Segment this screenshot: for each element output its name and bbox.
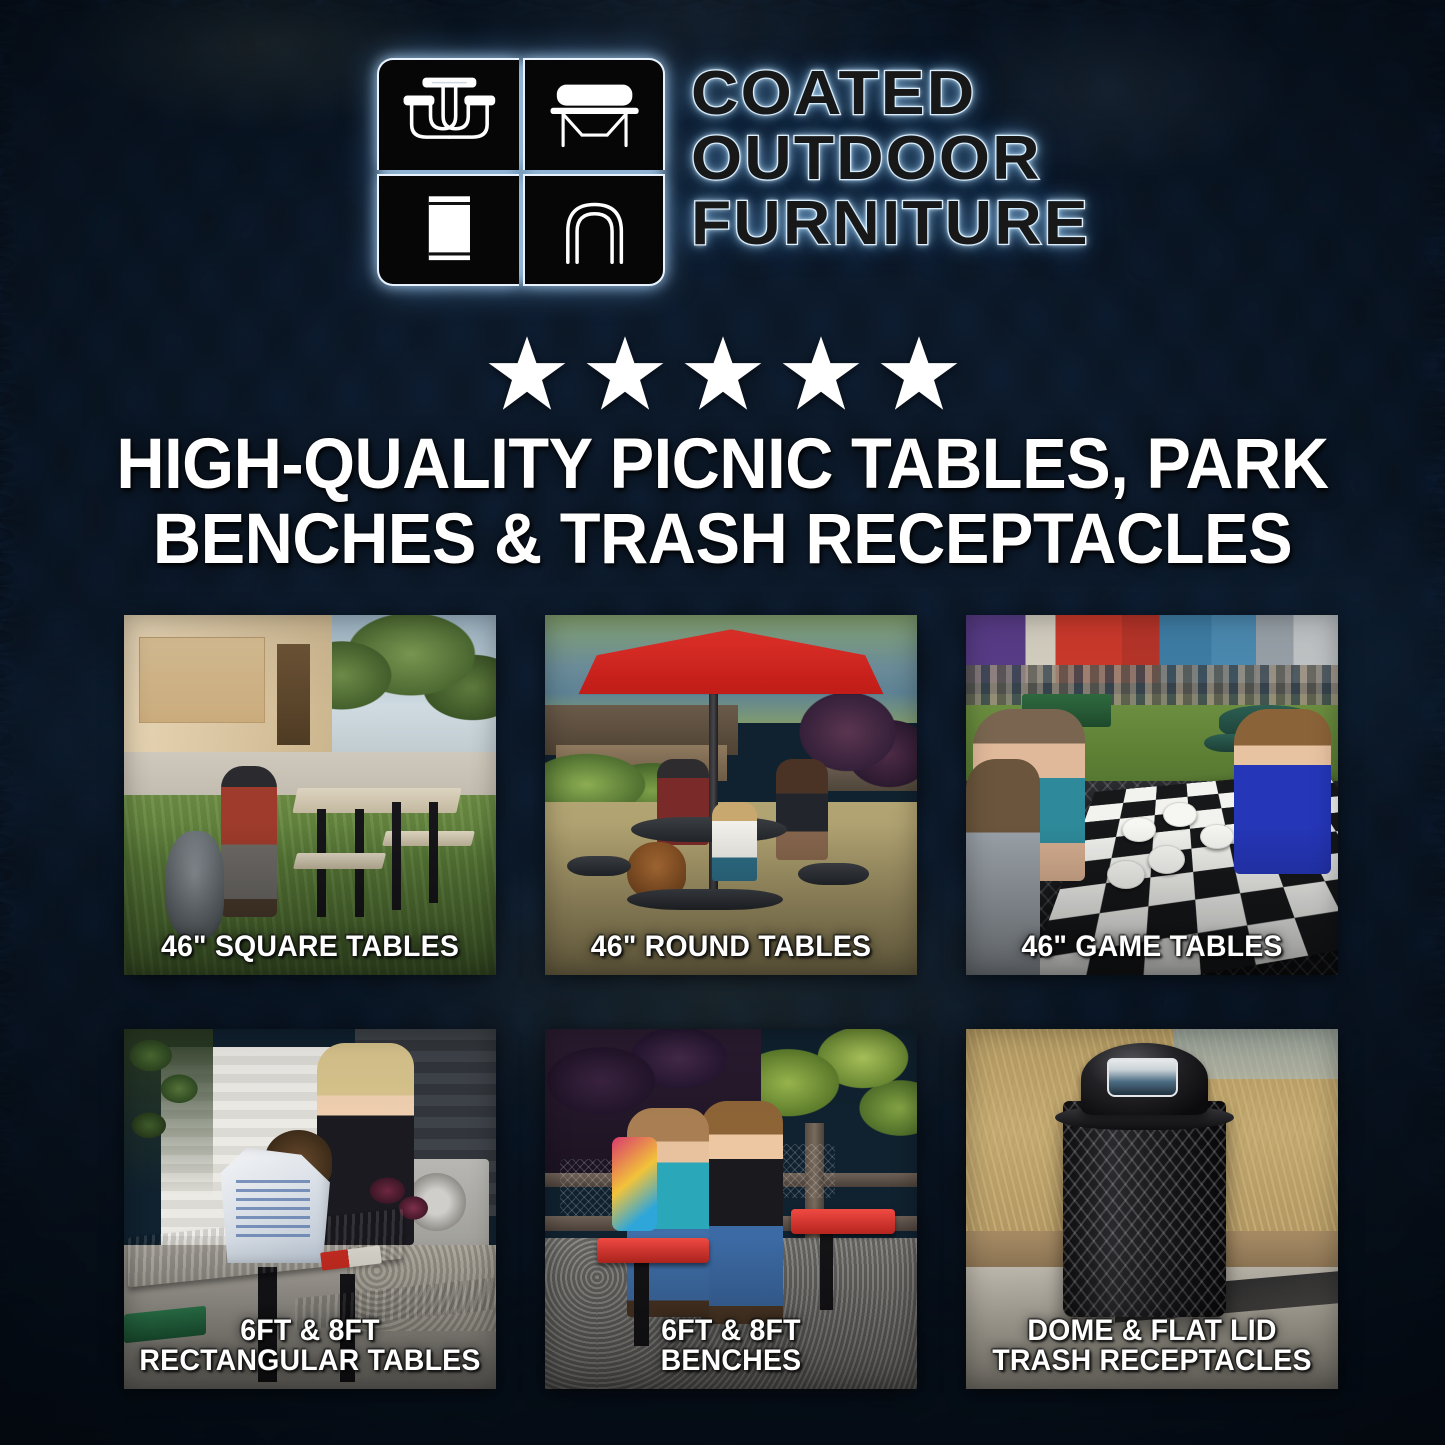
brand-line-1: COATED [691,62,1090,125]
product-caption-benches: 6FT & 8FT BENCHES [560,1316,902,1377]
brand-line-2: OUTDOOR [691,127,1090,190]
product-caption-trash-receptacles: DOME & FLAT LID TRASH RECEPTACLES [981,1316,1323,1377]
star-rating [0,334,1445,412]
caption-line: 6FT & 8FT [139,1316,481,1347]
product-tile-rectangular-tables[interactable]: 6FT & 8FT RECTANGULAR TABLES [124,1029,496,1389]
product-tile-square-tables[interactable]: 46" SQUARE TABLES [124,615,496,975]
caption-line: DOME & FLAT LID [981,1316,1323,1347]
product-caption-round-tables: 46" ROUND TABLES [560,932,902,963]
product-tile-round-tables[interactable]: 46" ROUND TABLES [545,615,917,975]
product-caption-square-tables: 46" SQUARE TABLES [139,932,481,963]
product-tile-game-tables[interactable]: 46" GAME TABLES [966,615,1338,975]
trash-receptacle-icon [377,174,519,286]
product-tile-trash-receptacles[interactable]: DOME & FLAT LID TRASH RECEPTACLES [966,1029,1338,1389]
logo-icon-grid [377,58,665,286]
caption-line: RECTANGULAR TABLES [139,1346,481,1377]
product-caption-rectangular-tables: 6FT & 8FT RECTANGULAR TABLES [139,1316,481,1377]
caption-line: 46" SQUARE TABLES [139,932,481,963]
star-icon-2 [585,334,665,412]
product-caption-game-tables: 46" GAME TABLES [981,932,1323,963]
brand-logo: COATED OUTDOOR FURNITURE [0,58,1445,286]
headline-line-1: HIGH-QUALITY PICNIC TABLES, PARK [109,428,1336,503]
brand-line-3: FURNITURE [691,192,1090,255]
star-icon-4 [781,334,861,412]
caption-line: 46" ROUND TABLES [560,932,902,963]
product-grid: 46" SQUARE TABLES [124,615,1322,1389]
star-icon-3 [683,334,763,412]
park-bench-icon [523,58,665,170]
product-photo-square-tables [124,615,496,975]
product-photo-game-tables [966,615,1338,975]
caption-line: TRASH RECEPTACLES [981,1346,1323,1377]
brand-wordmark: COATED OUTDOOR FURNITURE [691,58,1067,256]
bike-rack-arch-icon [523,174,665,286]
poster-canvas: COATED OUTDOOR FURNITURE HIGH-QUALITY PI… [0,0,1445,1445]
picnic-table-icon [377,58,519,170]
headline-line-2: BENCHES & TRASH RECEPTACLES [109,503,1336,578]
caption-line: BENCHES [560,1346,902,1377]
star-icon-1 [487,334,567,412]
caption-line: 46" GAME TABLES [981,932,1323,963]
product-photo-round-tables [545,615,917,975]
page-title: HIGH-QUALITY PICNIC TABLES, PARK BENCHES… [109,428,1336,577]
product-tile-benches[interactable]: 6FT & 8FT BENCHES [545,1029,917,1389]
star-icon-5 [879,334,959,412]
caption-line: 6FT & 8FT [560,1316,902,1347]
